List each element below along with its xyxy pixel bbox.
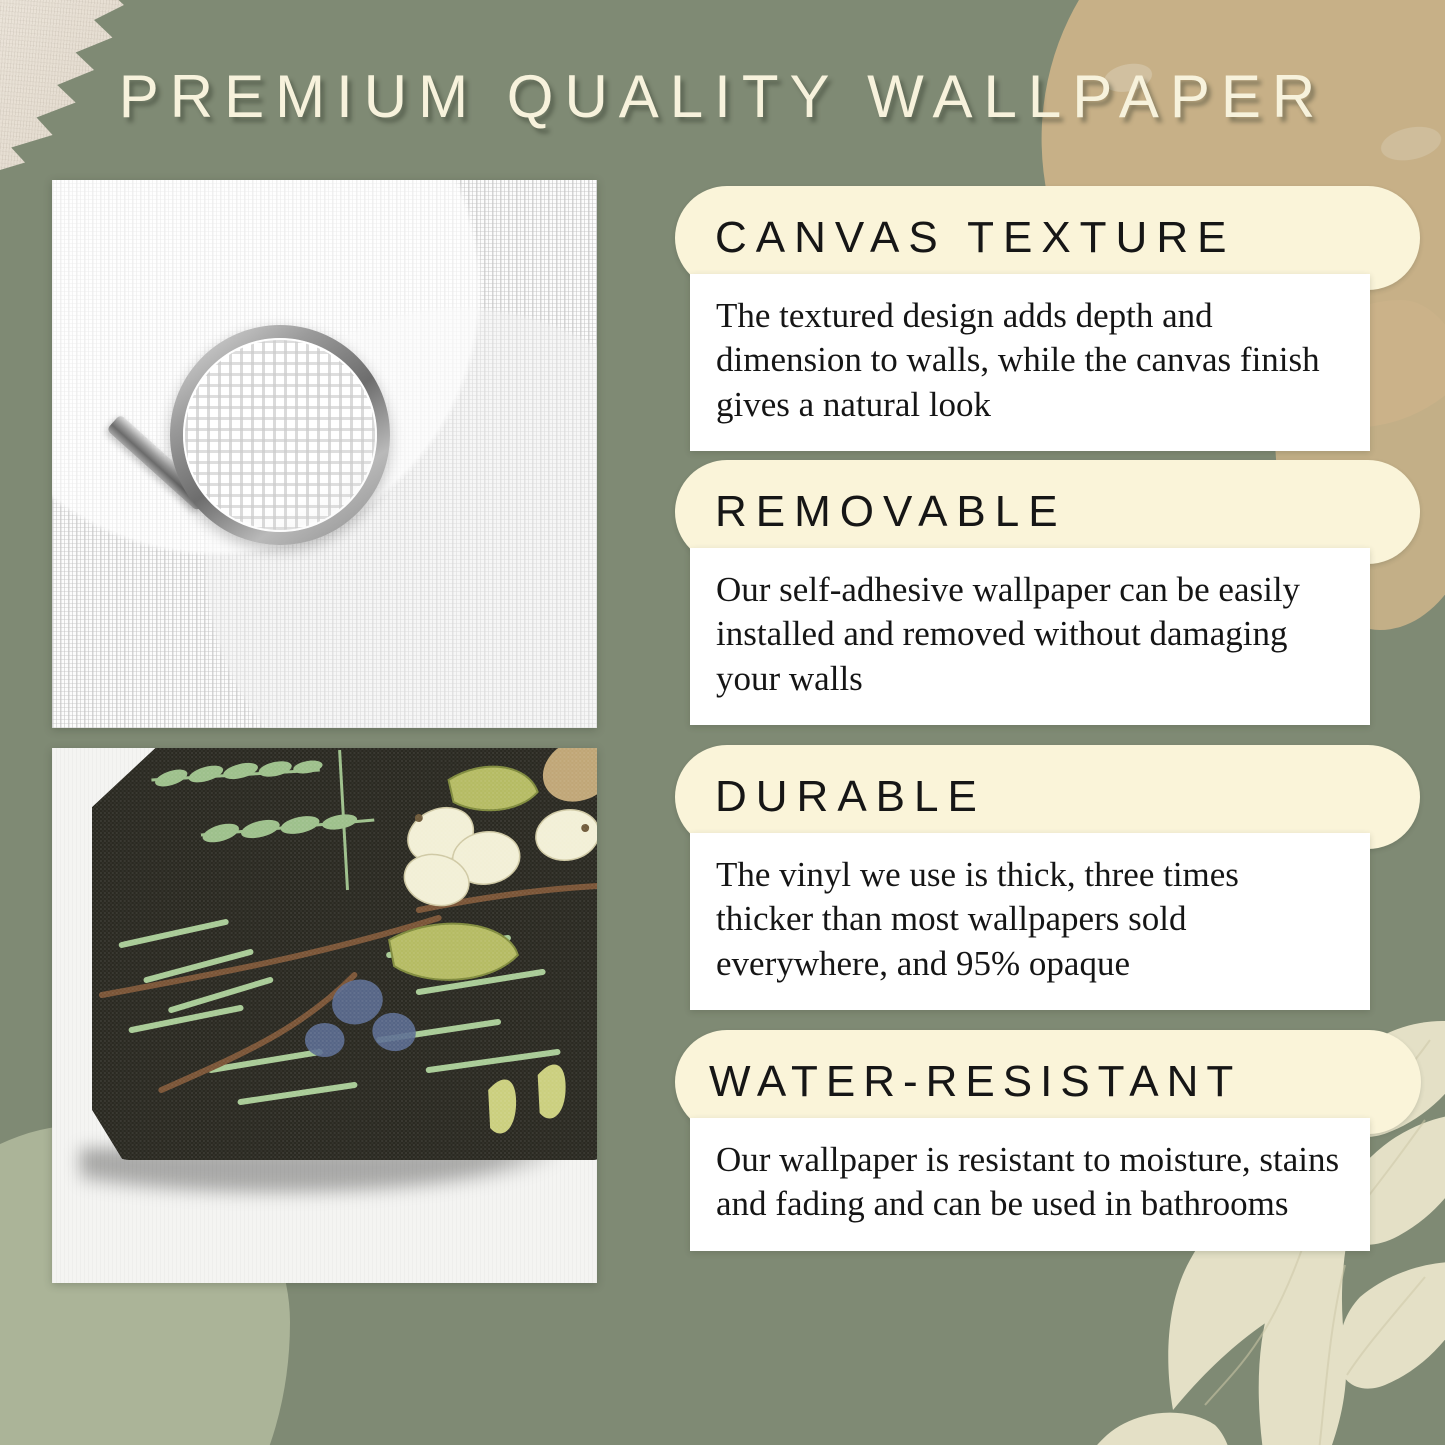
feature-card-water-resistant: WATER-RESISTANT Our wallpaper is resista… xyxy=(675,1030,1421,1251)
feature-heading-text: WATER-RESISTANT xyxy=(709,1057,1241,1107)
canvas-texture-photo xyxy=(52,180,597,728)
feature-body-panel: Our self-adhesive wallpaper can be easil… xyxy=(690,548,1370,725)
feature-body-text: Our wallpaper is resistant to moisture, … xyxy=(716,1138,1344,1227)
feature-card-canvas-texture: CANVAS TEXTURE The textured design adds … xyxy=(675,186,1420,451)
feature-body-panel: The textured design adds depth and dimen… xyxy=(690,274,1370,451)
feature-heading-text: DURABLE xyxy=(715,772,986,822)
feature-card-durable: DURABLE The vinyl we use is thick, three… xyxy=(675,745,1420,1010)
page-title: PREMIUM QUALITY WALLPAPER xyxy=(0,62,1445,131)
feature-body-panel: Our wallpaper is resistant to moisture, … xyxy=(690,1118,1370,1251)
feature-body-text: Our self-adhesive wallpaper can be easil… xyxy=(716,568,1344,701)
feature-heading-text: REMOVABLE xyxy=(715,487,1067,537)
feature-card-removable: REMOVABLE Our self-adhesive wallpaper ca… xyxy=(675,460,1420,725)
wallpaper-roll-photo xyxy=(52,748,597,1283)
infographic-page: PREMIUM QUALITY WALLPAPER xyxy=(0,0,1445,1445)
botanical-print-pattern xyxy=(92,748,597,1160)
feature-body-text: The vinyl we use is thick, three times t… xyxy=(716,853,1344,986)
feature-body-text: The textured design adds depth and dimen… xyxy=(716,294,1344,427)
feature-heading-text: CANVAS TEXTURE xyxy=(715,213,1235,263)
wallpaper-roll xyxy=(92,748,597,1160)
feature-body-panel: The vinyl we use is thick, three times t… xyxy=(690,833,1370,1010)
magnifier-lens-icon xyxy=(170,325,390,545)
magnifier-icon xyxy=(170,325,390,545)
